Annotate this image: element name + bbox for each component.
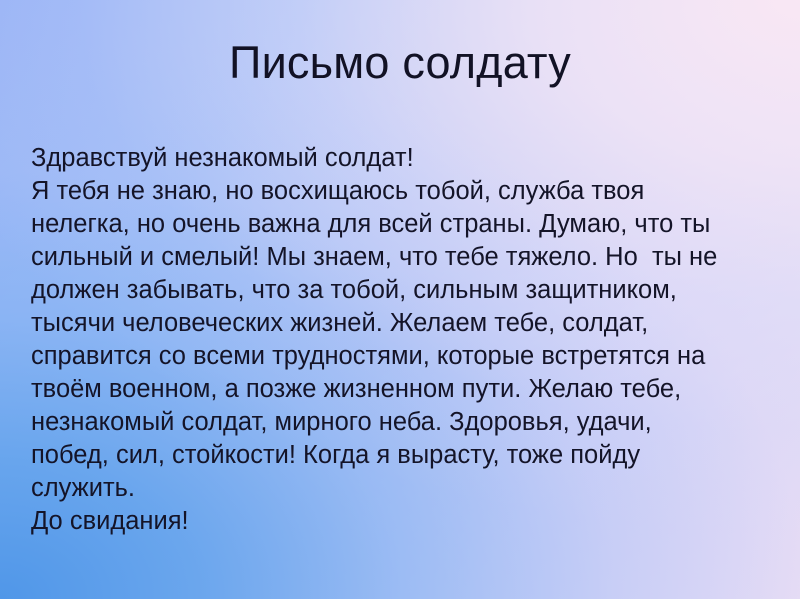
letter-line: побед, сил, стойкости! Когда я вырасту, …	[31, 439, 771, 472]
letter-body-text: Здравствуй незнакомый солдат! Я тебя не …	[31, 142, 771, 538]
letter-line: справится со всеми трудностями, которые …	[31, 340, 771, 373]
letter-line: Я тебя не знаю, но восхищаюсь тобой, слу…	[31, 175, 771, 208]
letter-line: Здравствуй незнакомый солдат!	[31, 142, 771, 175]
slide-title: Письмо солдату	[0, 36, 800, 89]
letter-line: незнакомый солдат, мирного неба. Здоровь…	[31, 406, 771, 439]
letter-line: должен забывать, что за тобой, сильным з…	[31, 274, 771, 307]
letter-line: До свидания!	[31, 505, 771, 538]
letter-line: сильный и смелый! Мы знаем, что тебе тяж…	[31, 241, 771, 274]
presentation-slide: Письмо солдату Здравствуй незнакомый сол…	[0, 0, 800, 599]
letter-line: служить.	[31, 472, 771, 505]
letter-line: твоём военном, а позже жизненном пути. Ж…	[31, 373, 771, 406]
letter-line: нелегка, но очень важна для всей страны.…	[31, 208, 771, 241]
letter-line: тысячи человеческих жизней. Желаем тебе,…	[31, 307, 771, 340]
